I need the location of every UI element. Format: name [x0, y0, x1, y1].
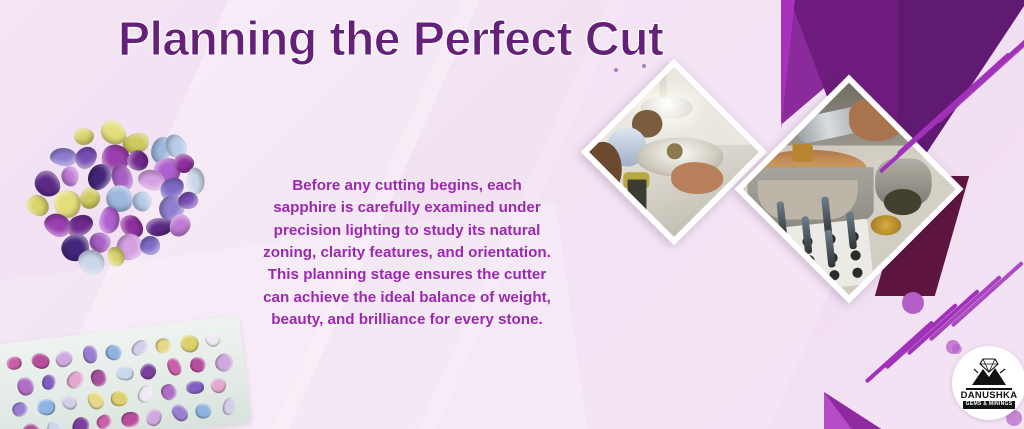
cut-gemstone-tray: [0, 315, 252, 429]
decorative-triangle: [781, 0, 795, 130]
decorative-triangle: [824, 392, 854, 429]
logo-tagline: GEMS & MININGS: [963, 401, 1016, 409]
body-text: Before any cutting begins, each sapphire…: [262, 175, 552, 331]
gem-cutting-inspection-photo: [581, 59, 768, 246]
logo-name: DANUSHKA: [961, 391, 1018, 401]
title-dot: [614, 68, 618, 72]
title-dot: [642, 64, 646, 68]
page-title: Planning the Perfect Cut: [118, 12, 718, 67]
diamond-mountain-icon: [966, 357, 1012, 387]
banner: Planning the Perfect Cut Before any cutt…: [0, 0, 1024, 429]
rough-sapphire-parcel: [14, 118, 214, 283]
decorative-circle: [952, 344, 962, 354]
brand-logo[interactable]: DANUSHKA GEMS & MININGS: [952, 346, 1024, 420]
decorative-circle: [902, 292, 924, 314]
